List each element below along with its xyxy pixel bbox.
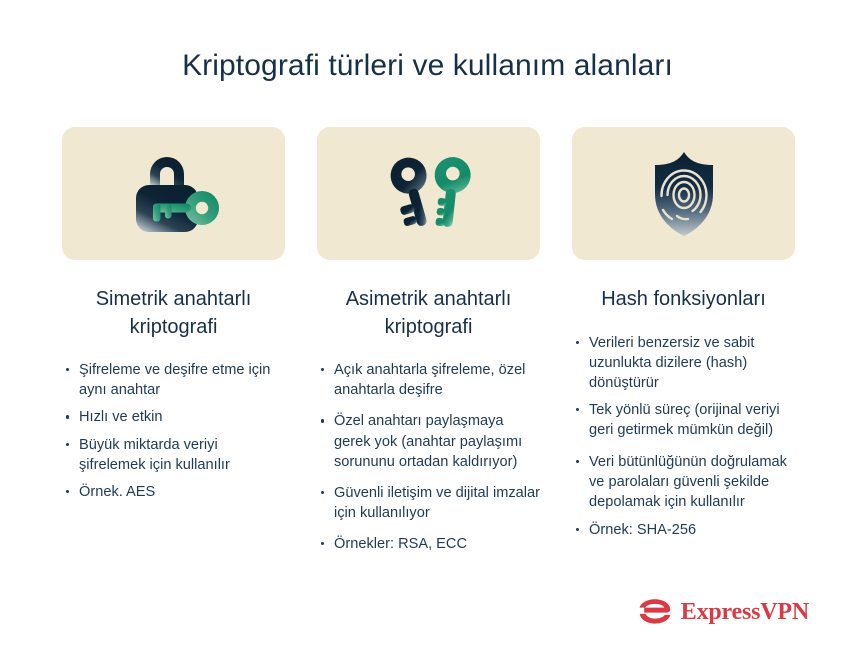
column-asymmetric: Asimetrik anahtarlı kriptografi Açık ana… [317, 127, 540, 565]
list-item: Özel anahtarı paylaşmaya gerek yok (anah… [317, 411, 540, 471]
list-item: Örnekler: RSA, ECC [317, 534, 540, 554]
list-item: Örnek. AES [62, 482, 285, 502]
two-keys-icon [377, 151, 481, 237]
list-item: Örnek: SHA-256 [572, 520, 795, 540]
column-symmetric: Simetrik anahtarlı kriptografi Şifreleme… [62, 127, 285, 565]
heading-symmetric: Simetrik anahtarlı kriptografi [62, 286, 285, 341]
bullet-list-hash: Verileri benzersiz ve sabit uzunlukta di… [572, 333, 795, 547]
list-item: Açık anahtarla şifreleme, özel anahtarla… [317, 360, 540, 400]
infographic-page: Kriptografi türleri ve kullanım alanları [0, 0, 855, 657]
list-item: Şifreleme ve deşifre etme için aynı anah… [62, 360, 285, 400]
expressvpn-logo-text: ExpressVPN [681, 600, 809, 624]
list-item: Verileri benzersiz ve sabit uzunlukta di… [572, 333, 795, 393]
list-item: Tek yönlü süreç (orijinal veriyi geri ge… [572, 400, 795, 440]
padlock-with-key-icon [122, 151, 226, 237]
list-item: Büyük miktarda veriyi şifrelemek için ku… [62, 435, 285, 475]
icon-card-symmetric [62, 127, 285, 260]
list-item: Veri bütünlüğünün doğrulamak ve parolala… [572, 452, 795, 512]
icon-card-hash [572, 127, 795, 260]
icon-card-asymmetric [317, 127, 540, 260]
expressvpn-logo-mark [638, 598, 672, 625]
list-item: Hızlı ve etkin [62, 407, 285, 427]
bullet-list-asymmetric: Açık anahtarla şifreleme, özel anahtarla… [317, 360, 540, 565]
bullet-list-symmetric: Şifreleme ve deşifre etme için aynı anah… [62, 360, 285, 509]
heading-asymmetric: Asimetrik anahtarlı kriptografi [317, 286, 540, 341]
column-hash: Hash fonksiyonları Verileri benzersiz ve… [572, 127, 795, 565]
shield-fingerprint-icon [632, 148, 736, 240]
heading-hash: Hash fonksiyonları [572, 286, 795, 314]
columns-container: Simetrik anahtarlı kriptografi Şifreleme… [62, 127, 797, 565]
list-item: Güvenli iletişim ve dijital imzalar için… [317, 483, 540, 523]
expressvpn-logo: ExpressVPN [638, 598, 809, 625]
page-title: Kriptografi türleri ve kullanım alanları [0, 48, 855, 84]
